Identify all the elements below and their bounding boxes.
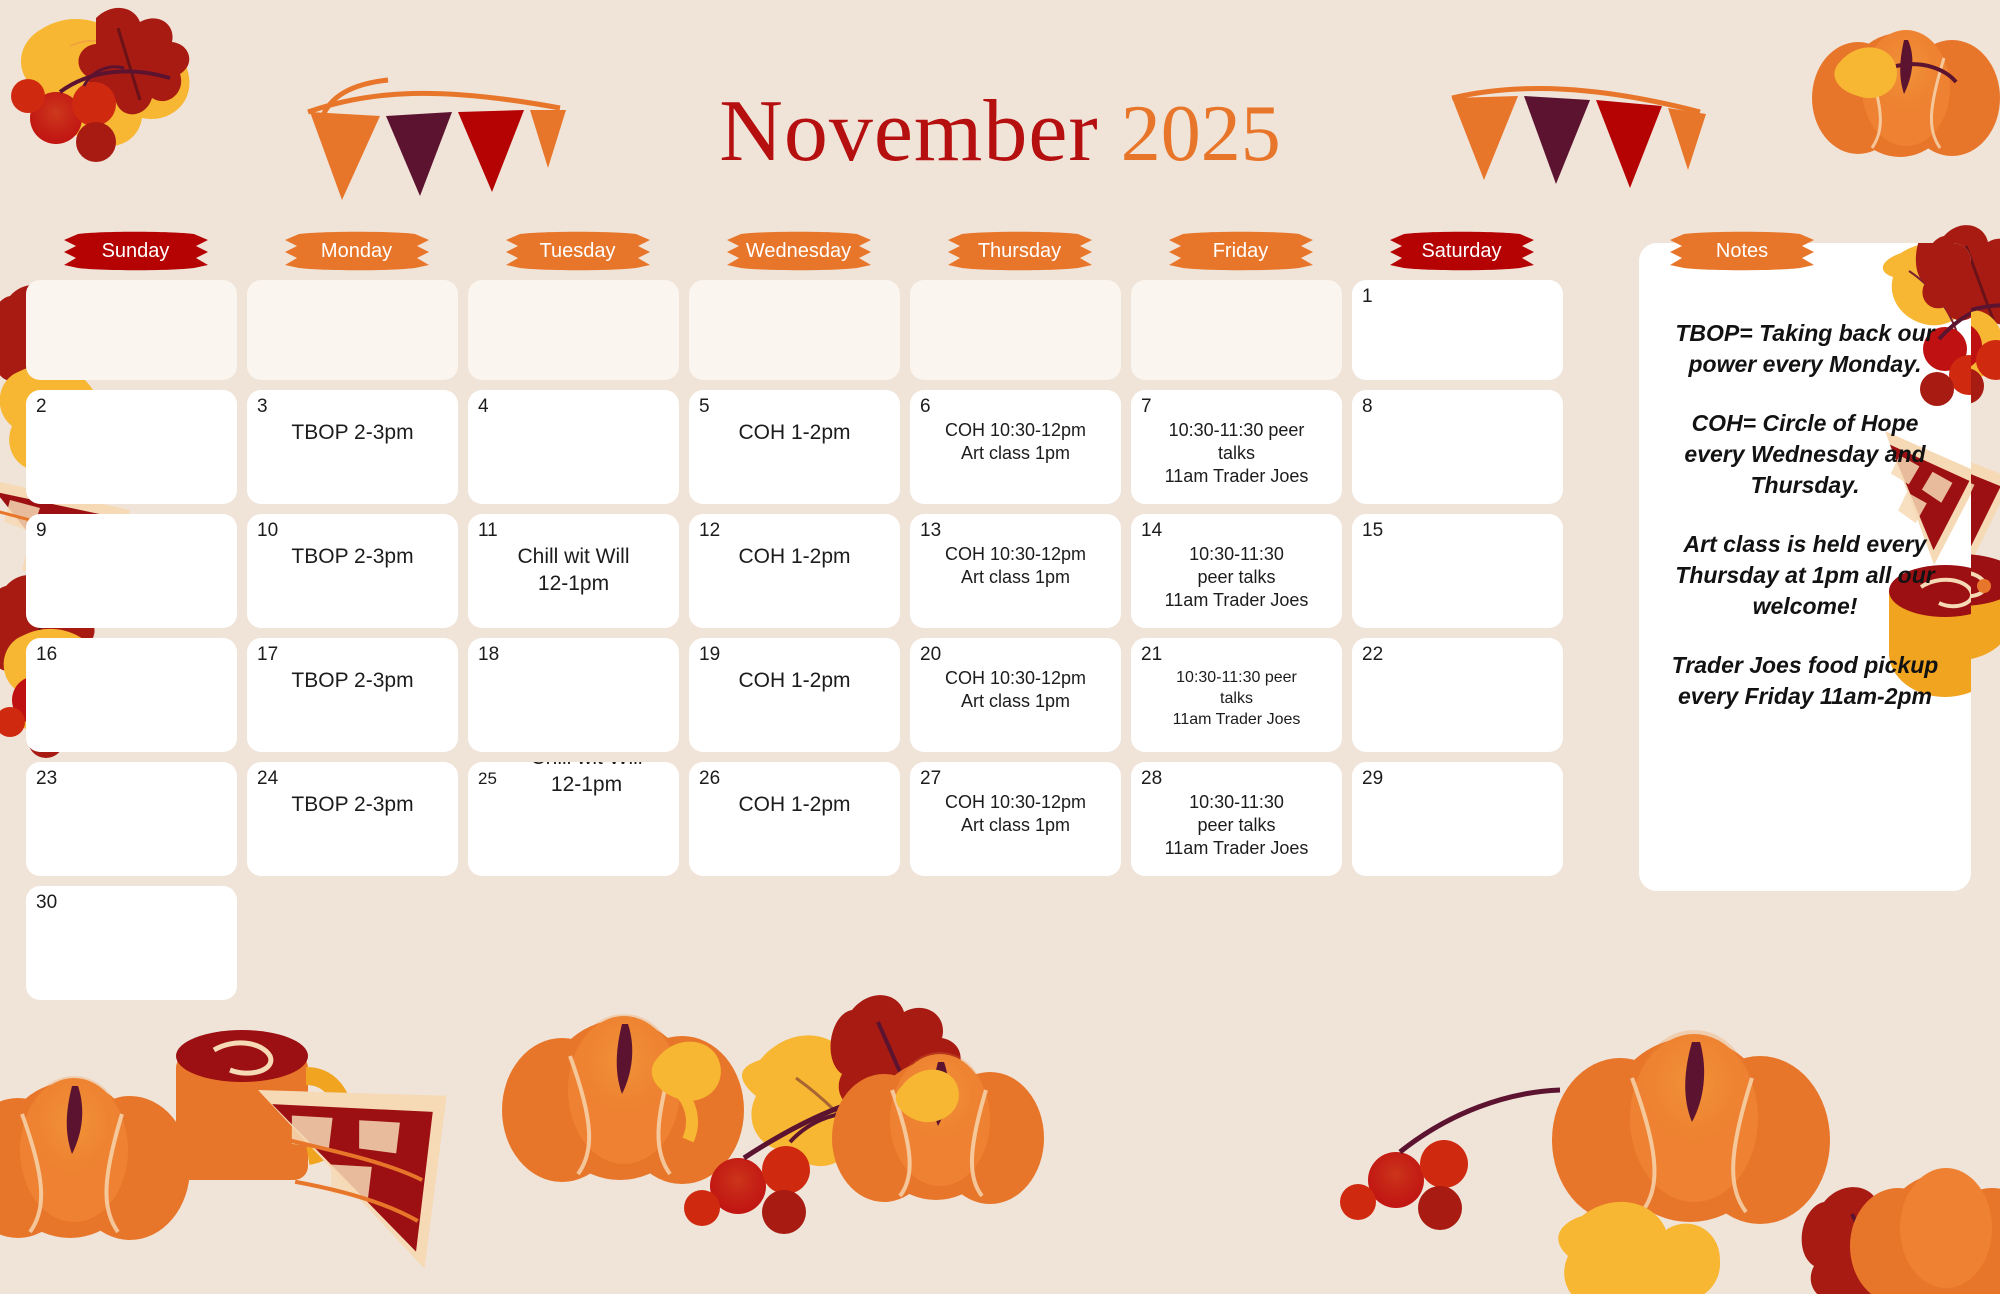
event-line: TBOP 2-3pm	[259, 543, 446, 570]
calendar-day-cell-27[interactable]: 27COH 10:30-12pmArt class 1pm	[910, 762, 1121, 876]
day-header-banner-monday: Monday	[283, 232, 431, 270]
day-header-label: Friday	[1213, 240, 1269, 263]
notes-content: TBOP= Taking back our power every Monday…	[1639, 243, 1971, 732]
day-events: 10:30-11:30peer talks11am Trader Joes	[1141, 791, 1332, 860]
calendar-day-cell-10[interactable]: 10TBOP 2-3pm	[247, 514, 458, 628]
event-line: TBOP 2-3pm	[259, 419, 446, 446]
day-header-label: Tuesday	[540, 240, 616, 263]
calendar-day-cell-26[interactable]: 26COH 1-2pm	[689, 762, 900, 876]
calendar-day-cell-29[interactable]: 29	[1352, 762, 1563, 876]
calendar-day-cell-30[interactable]: 30	[26, 886, 237, 1000]
day-number: 8	[1362, 396, 1553, 418]
day-number: 12	[699, 520, 890, 542]
day-header-cell: Monday	[247, 232, 466, 270]
day-number: 27	[920, 768, 1111, 790]
day-header-banner-wednesday: Wednesday	[725, 232, 873, 270]
day-events: COH 10:30-12pmArt class 1pm	[920, 791, 1111, 837]
day-number: 7	[1141, 396, 1332, 418]
event-line: talks	[1143, 688, 1330, 709]
note-item: Trader Joes food pickup every Friday 11a…	[1661, 650, 1949, 712]
day-header-banner-friday: Friday	[1167, 232, 1315, 270]
day-number: 18	[478, 644, 669, 666]
calendar-week-row: 23TBOP 2-3pm45COH 1-2pm6COH 10:30-12pmAr…	[26, 390, 1630, 504]
day-header-label: Saturday	[1421, 240, 1501, 263]
event-line: peer talks	[1143, 566, 1330, 589]
day-number: 20	[920, 644, 1111, 666]
event-line: Chill wit Will	[480, 543, 667, 570]
day-number: 11	[478, 520, 669, 542]
calendar-day-cell-empty	[247, 280, 458, 380]
day-header-label: Monday	[321, 240, 392, 263]
event-line: COH 1-2pm	[701, 543, 888, 570]
calendar-day-cell-28[interactable]: 2810:30-11:30peer talks11am Trader Joes	[1131, 762, 1342, 876]
event-line: Art class 1pm	[922, 566, 1109, 589]
calendar-header: November2025	[0, 80, 2000, 190]
day-number: 19	[699, 644, 890, 666]
day-events: 10:30-11:30 peertalks11am Trader Joes	[1141, 667, 1332, 730]
calendar-day-cell-7[interactable]: 710:30-11:30 peertalks11am Trader Joes	[1131, 390, 1342, 504]
note-item: TBOP= Taking back our power every Monday…	[1661, 318, 1949, 380]
day-events: Chill wit Will12-1pm	[478, 543, 669, 597]
bottom-right-cluster	[1340, 1030, 2000, 1294]
calendar-day-cell-2[interactable]: 2	[26, 390, 237, 504]
event-line: COH 10:30-12pm	[922, 667, 1109, 690]
day-events: COH 1-2pm	[699, 791, 890, 818]
calendar-day-cell-empty	[910, 280, 1121, 380]
event-line: 11am Trader Joes	[1143, 589, 1330, 612]
event-line: TBOP 2-3pm	[259, 667, 446, 694]
day-events: TBOP 2-3pm	[257, 667, 448, 694]
calendar-day-cell-9[interactable]: 9	[26, 514, 237, 628]
calendar-day-cell-22[interactable]: 22	[1352, 638, 1563, 752]
notes-panel: TBOP= Taking back our power every Monday…	[1639, 243, 1971, 891]
day-number: 15	[1362, 520, 1553, 542]
event-line: COH 1-2pm	[701, 419, 888, 446]
day-events: COH 10:30-12pmArt class 1pm	[920, 419, 1111, 465]
notes-header-banner: Notes	[1668, 232, 1816, 270]
day-number: 24	[257, 768, 448, 790]
day-number: 16	[36, 644, 227, 666]
day-number: 6	[920, 396, 1111, 418]
calendar-week-row: 2324TBOP 2-3pm25Chill wit Will12-1pm26CO…	[26, 762, 1630, 876]
notes-header-cell: Notes	[1573, 232, 1911, 270]
calendar-day-cell-8[interactable]: 8	[1352, 390, 1563, 504]
day-header-banner-thursday: Thursday	[946, 232, 1094, 270]
day-number: 5	[699, 396, 890, 418]
day-events: TBOP 2-3pm	[257, 791, 448, 818]
event-line: 10:30-11:30	[1143, 543, 1330, 566]
event-line: COH 10:30-12pm	[922, 419, 1109, 442]
day-number: 2	[36, 396, 227, 418]
calendar-page: November2025 Sunday Monday Tuesday Wedne…	[0, 0, 2000, 1294]
day-events: COH 1-2pm	[699, 667, 890, 694]
day-number: 26	[699, 768, 890, 790]
calendar-day-cell-3[interactable]: 3TBOP 2-3pm	[247, 390, 458, 504]
note-item: COH= Circle of Hope every Wednesday and …	[1661, 408, 1949, 501]
calendar-day-cell-5[interactable]: 5COH 1-2pm	[689, 390, 900, 504]
calendar-day-cell-21[interactable]: 2110:30-11:30 peertalks11am Trader Joes	[1131, 638, 1342, 752]
bottom-center-cluster	[502, 995, 1044, 1234]
event-line: peer talks	[1143, 814, 1330, 837]
calendar-day-cell-20[interactable]: 20COH 10:30-12pmArt class 1pm	[910, 638, 1121, 752]
day-header-banner-sunday: Sunday	[62, 232, 210, 270]
day-number: 29	[1362, 768, 1553, 790]
day-header-label: Thursday	[978, 240, 1061, 263]
day-number: 10	[257, 520, 448, 542]
event-line: 10:30-11:30 peer	[1143, 667, 1330, 688]
day-header-banner-saturday: Saturday	[1388, 232, 1536, 270]
calendar-day-cell-6[interactable]: 6COH 10:30-12pmArt class 1pm	[910, 390, 1121, 504]
day-header-cell: Sunday	[26, 232, 245, 270]
day-events: TBOP 2-3pm	[257, 419, 448, 446]
calendar-week-row: 1617TBOP 2-3pm1819COH 1-2pm20COH 10:30-1…	[26, 638, 1630, 752]
event-line: Chill wit Will	[506, 762, 667, 771]
calendar-day-cell-4[interactable]: 4	[468, 390, 679, 504]
calendar-day-cell-14[interactable]: 1410:30-11:30peer talks11am Trader Joes	[1131, 514, 1342, 628]
event-line: COH 1-2pm	[701, 791, 888, 818]
notes-header-label: Notes	[1716, 240, 1768, 263]
day-header-cell: Thursday	[910, 232, 1129, 270]
day-events: 10:30-11:30 peertalks11am Trader Joes	[1141, 419, 1332, 488]
day-number: 22	[1362, 644, 1553, 666]
day-number: 30	[36, 892, 227, 914]
event-line: Art class 1pm	[922, 442, 1109, 465]
calendar-day-cell-16[interactable]: 16	[26, 638, 237, 752]
day-header-cell: Friday	[1131, 232, 1350, 270]
day-number: 25	[478, 768, 497, 790]
calendar-day-cell-17[interactable]: 17TBOP 2-3pm	[247, 638, 458, 752]
event-line: 12-1pm	[480, 570, 667, 597]
bottom-left-cluster	[0, 1030, 470, 1288]
day-events: COH 10:30-12pmArt class 1pm	[920, 543, 1111, 589]
event-line: Art class 1pm	[922, 814, 1109, 837]
day-number: 14	[1141, 520, 1332, 542]
day-number: 23	[36, 768, 227, 790]
event-line: 11am Trader Joes	[1143, 465, 1330, 488]
event-line: COH 1-2pm	[701, 667, 888, 694]
calendar-grid: 123TBOP 2-3pm45COH 1-2pm6COH 10:30-12pmA…	[26, 280, 1630, 1010]
day-header-row: Sunday Monday Tuesday Wednesday Thursday…	[26, 232, 1974, 270]
calendar-day-cell-24[interactable]: 24TBOP 2-3pm	[247, 762, 458, 876]
calendar-week-row: 30	[26, 886, 1630, 1000]
event-line: 12-1pm	[506, 771, 667, 798]
day-number: 1	[1362, 286, 1553, 308]
day-number: 4	[478, 396, 669, 418]
day-number: 21	[1141, 644, 1332, 666]
calendar-day-cell-18[interactable]: 18	[468, 638, 679, 752]
year-label: 2025	[1121, 82, 1281, 186]
event-line: Art class 1pm	[922, 690, 1109, 713]
day-header-cell: Wednesday	[689, 232, 908, 270]
day-number: 13	[920, 520, 1111, 542]
day-header-banner-tuesday: Tuesday	[504, 232, 652, 270]
day-events: Chill wit Will12-1pm	[478, 762, 669, 798]
day-header-label: Wednesday	[746, 240, 851, 263]
calendar-day-cell-15[interactable]: 15	[1352, 514, 1563, 628]
calendar-week-row: 1	[26, 280, 1630, 380]
day-events: COH 10:30-12pmArt class 1pm	[920, 667, 1111, 713]
event-line: 10:30-11:30 peer	[1143, 419, 1330, 442]
calendar-day-cell-empty	[26, 280, 237, 380]
day-number: 3	[257, 396, 448, 418]
day-header-cell: Tuesday	[468, 232, 687, 270]
event-line: 10:30-11:30	[1143, 791, 1330, 814]
calendar-day-cell-empty	[1131, 280, 1342, 380]
event-line: COH 10:30-12pm	[922, 791, 1109, 814]
day-number: 9	[36, 520, 227, 542]
day-events: TBOP 2-3pm	[257, 543, 448, 570]
calendar-day-cell-23[interactable]: 23	[26, 762, 237, 876]
day-header-label: Sunday	[102, 240, 170, 263]
month-label: November	[719, 80, 1098, 184]
day-events: 10:30-11:30peer talks11am Trader Joes	[1141, 543, 1332, 612]
day-header-cell: Saturday	[1352, 232, 1571, 270]
day-number: 28	[1141, 768, 1332, 790]
calendar-day-cell-empty	[689, 280, 900, 380]
day-number: 17	[257, 644, 448, 666]
event-line: COH 10:30-12pm	[922, 543, 1109, 566]
calendar-day-cell-12[interactable]: 12COH 1-2pm	[689, 514, 900, 628]
calendar-day-cell-11[interactable]: 11Chill wit Will12-1pm	[468, 514, 679, 628]
calendar-day-cell-1[interactable]: 1	[1352, 280, 1563, 380]
calendar-week-row: 910TBOP 2-3pm11Chill wit Will12-1pm12COH…	[26, 514, 1630, 628]
note-item: Art class is held every Thursday at 1pm …	[1661, 529, 1949, 622]
calendar-day-cell-empty	[468, 280, 679, 380]
day-events: COH 1-2pm	[699, 543, 890, 570]
event-line: 11am Trader Joes	[1143, 709, 1330, 730]
event-line: talks	[1143, 442, 1330, 465]
event-line: 11am Trader Joes	[1143, 837, 1330, 860]
calendar-day-cell-19[interactable]: 19COH 1-2pm	[689, 638, 900, 752]
event-line: TBOP 2-3pm	[259, 791, 446, 818]
day-events: COH 1-2pm	[699, 419, 890, 446]
calendar-day-cell-13[interactable]: 13COH 10:30-12pmArt class 1pm	[910, 514, 1121, 628]
calendar-day-cell-25[interactable]: 25Chill wit Will12-1pm	[468, 762, 679, 876]
